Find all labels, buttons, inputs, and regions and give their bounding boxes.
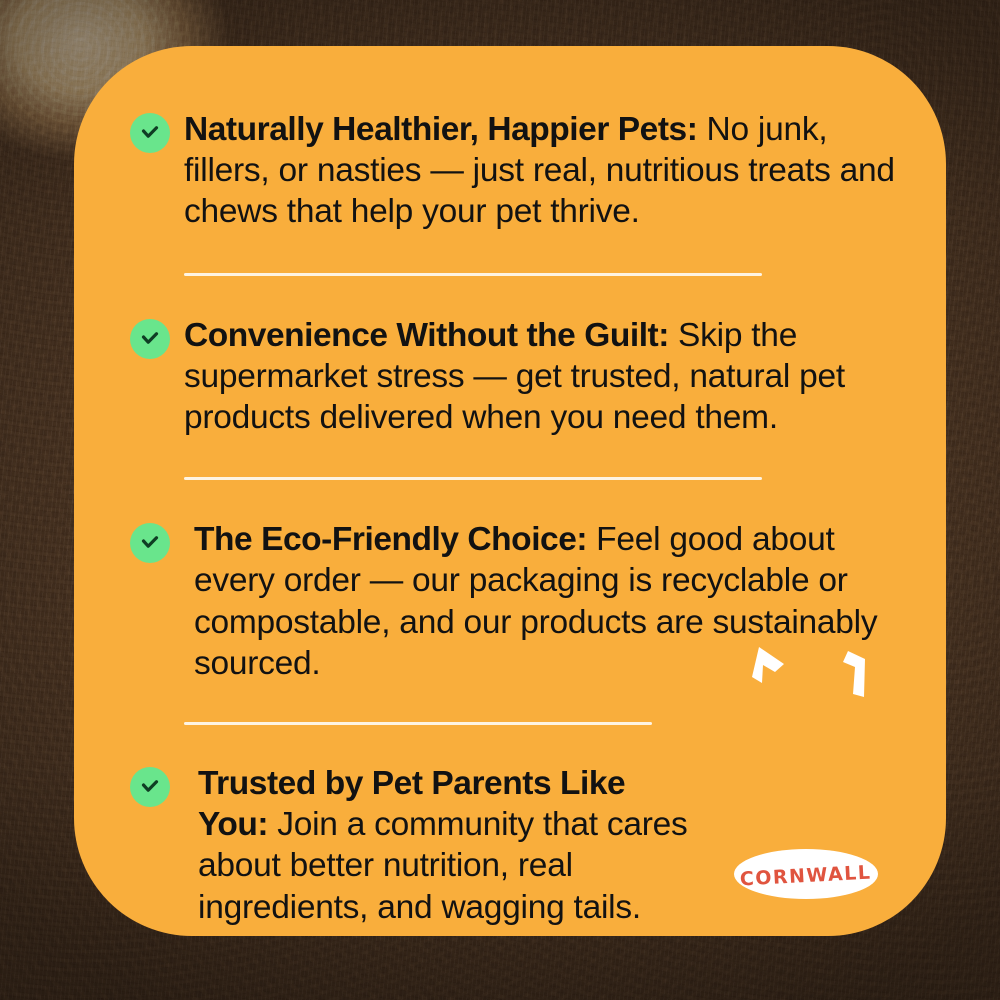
benefit-heading: Naturally Healthier, Happier Pets: — [184, 111, 697, 148]
benefit-divider — [184, 477, 762, 480]
check-wrapper — [130, 314, 170, 359]
check-wrapper — [130, 762, 170, 807]
benefit-text: Naturally Healthier, Happier Pets: No ju… — [184, 108, 896, 233]
benefit-body: Join a community that cares about better… — [198, 806, 688, 925]
benefits-list: Naturally Healthier, Happier Pets: No ju… — [130, 108, 900, 896]
benefit-divider — [184, 273, 762, 276]
benefit-text: Trusted by Pet Parents Like You: Join a … — [198, 762, 698, 928]
benefit-heading: The Eco-Friendly Choice: — [194, 521, 587, 558]
benefit-text: The Eco-Friendly Choice: Feel good about… — [194, 518, 894, 684]
benefit-item: Naturally Healthier, Happier Pets: No ju… — [130, 108, 900, 233]
check-wrapper — [130, 108, 170, 153]
benefit-item: The Eco-Friendly Choice: Feel good about… — [130, 518, 900, 684]
benefit-heading: Convenience Without the Guilt: — [184, 317, 669, 354]
benefit-item: Trusted by Pet Parents Like You: Join a … — [130, 762, 900, 928]
check-circle-icon — [130, 319, 170, 359]
check-circle-icon — [130, 523, 170, 563]
benefit-divider — [184, 722, 652, 725]
check-wrapper — [130, 518, 170, 563]
check-circle-icon — [130, 113, 170, 153]
benefit-text: Convenience Without the Guilt: Skip the … — [184, 314, 900, 439]
benefit-item: Convenience Without the Guilt: Skip the … — [130, 314, 900, 439]
check-circle-icon — [130, 767, 170, 807]
benefits-card: Naturally Healthier, Happier Pets: No ju… — [74, 46, 946, 936]
